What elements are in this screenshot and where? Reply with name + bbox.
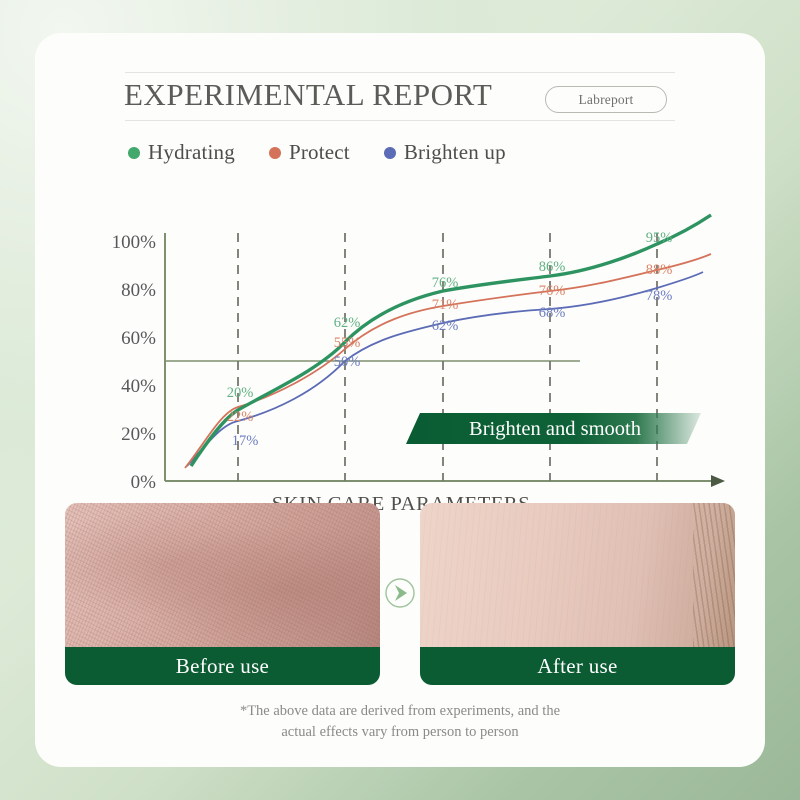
- page-title: EXPERIMENTAL REPORT: [124, 77, 492, 113]
- data-label-brighten-3: 62%: [432, 318, 459, 334]
- data-label-hydrating-5: 95%: [646, 230, 673, 246]
- y-axis-ticks: 100% 80% 60% 40% 20% 0%: [112, 232, 157, 493]
- legend-dot-icon: [128, 147, 140, 159]
- data-label-protect-3: 71%: [432, 297, 459, 313]
- data-label-protect-4: 76%: [539, 283, 566, 299]
- data-label-brighten-5: 78%: [646, 288, 673, 304]
- header-rule-bottom: [125, 120, 675, 121]
- legend-label: Hydrating: [148, 140, 235, 165]
- data-label-protect-1: 22%: [227, 409, 254, 425]
- y-tick-label: 20%: [121, 424, 156, 445]
- after-photo: [420, 503, 735, 647]
- x-axis-arrow-icon: [711, 475, 725, 487]
- report-card: EXPERIMENTAL REPORT Labreport Hydrating …: [35, 33, 765, 767]
- poster-root: EXPERIMENTAL REPORT Labreport Hydrating …: [0, 0, 800, 800]
- after-card[interactable]: After use: [420, 503, 735, 685]
- labreport-badge[interactable]: Labreport: [545, 86, 667, 113]
- before-card[interactable]: Before use: [65, 503, 380, 685]
- before-caption: Before use: [65, 647, 380, 685]
- data-label-protect-5: 88%: [646, 262, 673, 278]
- legend-dot-icon: [384, 147, 396, 159]
- after-caption: After use: [420, 647, 735, 685]
- line-chart: 100% 80% 60% 40% 20% 0%: [35, 178, 765, 528]
- chart-svg: 100% 80% 60% 40% 20% 0%: [35, 178, 765, 528]
- footnote-line-2: actual effects vary from person to perso…: [35, 722, 765, 743]
- header-rule-top: [125, 72, 675, 73]
- chevron-right-icon: [381, 574, 419, 612]
- data-label-brighten-4: 68%: [539, 305, 566, 321]
- legend-label: Protect: [289, 140, 350, 165]
- banner-label: Brighten and smooth: [469, 418, 641, 440]
- y-tick-label: 60%: [121, 328, 156, 349]
- before-photo: [65, 503, 380, 647]
- data-label-brighten-2: 50%: [334, 354, 361, 370]
- y-tick-label: 40%: [121, 376, 156, 397]
- legend-item-protect[interactable]: Protect: [269, 140, 350, 165]
- data-label-hydrating-1: 20%: [227, 385, 254, 401]
- footnote-line-1: *The above data are derived from experim…: [35, 701, 765, 722]
- before-after-comparison: Before use After use: [35, 503, 765, 698]
- footnote: *The above data are derived from experim…: [35, 701, 765, 743]
- legend-item-hydrating[interactable]: Hydrating: [128, 140, 235, 165]
- y-tick-label: 100%: [112, 232, 157, 253]
- y-tick-label: 0%: [131, 472, 157, 493]
- chart-legend: Hydrating Protect Brighten up: [128, 140, 506, 165]
- data-label-hydrating-2: 62%: [334, 315, 361, 331]
- data-label-protect-2: 55%: [334, 335, 361, 351]
- legend-label: Brighten up: [404, 140, 506, 165]
- data-label-brighten-1: 17%: [232, 433, 259, 449]
- data-label-hydrating-4: 86%: [539, 259, 566, 275]
- legend-dot-icon: [269, 147, 281, 159]
- data-label-hydrating-3: 76%: [432, 275, 459, 291]
- legend-item-brighten-up[interactable]: Brighten up: [384, 140, 506, 165]
- y-tick-label: 80%: [121, 280, 156, 301]
